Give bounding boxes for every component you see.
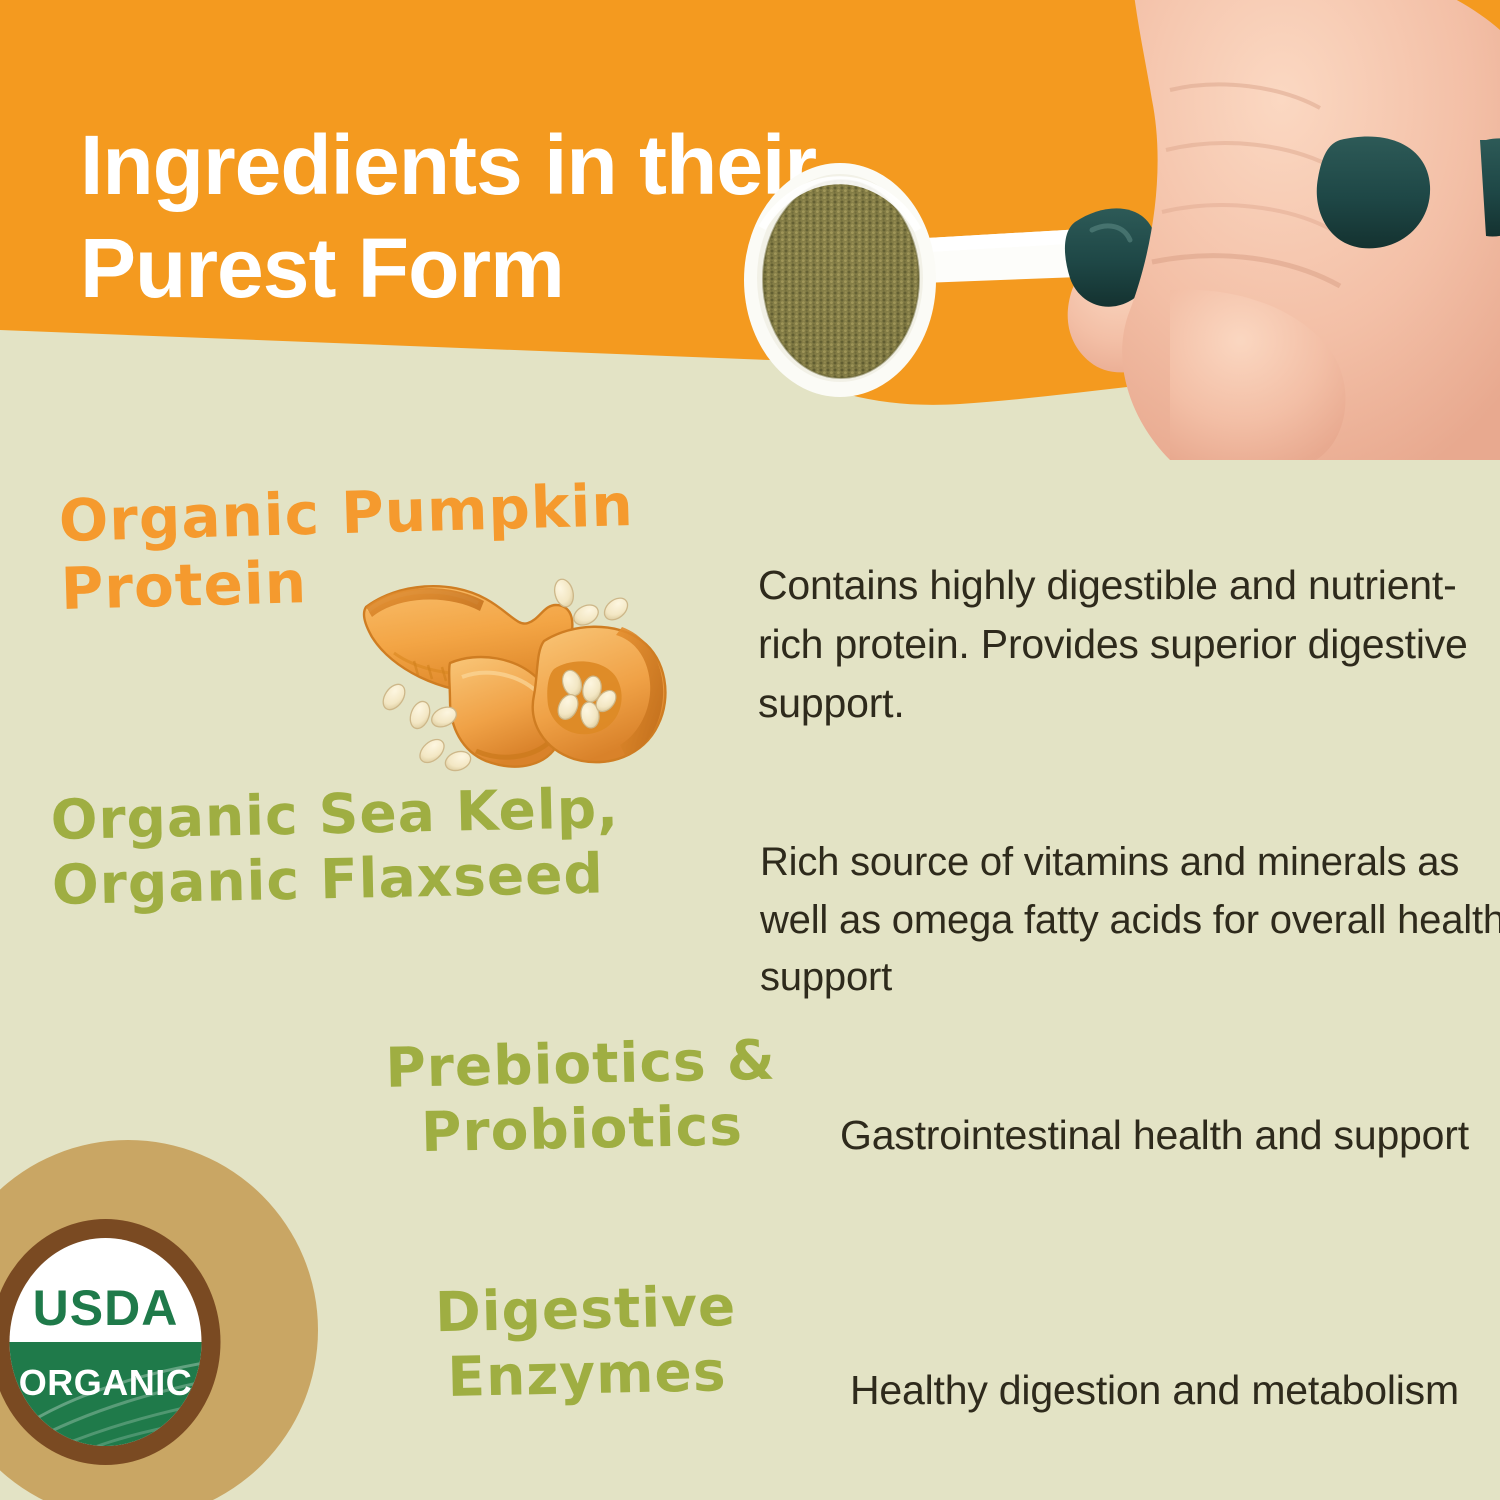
ingredient-description-prebiotics-probiotics: Gastrointestinal health and support [840, 1106, 1480, 1165]
scoop-and-hand-photo [700, 0, 1500, 460]
usda-organic-seal-icon: USDA ORGANIC [0, 1217, 223, 1467]
ingredient-row-kelp-flaxseed: Organic Sea Kelp, Organic Flaxseed Rich … [50, 788, 1470, 918]
ingredient-row-prebiotics-probiotics: Prebiotics & Probiotics Gastrointestinal… [330, 1037, 1490, 1167]
ingredient-description-kelp-flaxseed: Rich source of vitamins and minerals as … [760, 834, 1500, 1007]
badge-organic-text: ORGANIC [19, 1362, 193, 1403]
infographic-canvas: Ingredients in their Purest Form [0, 0, 1500, 1500]
ingredient-row-pumpkin-protein: Organic Pumpkin Protein [58, 487, 1458, 624]
badge-usda-text: USDA [33, 1280, 179, 1336]
ingredient-name-prebiotics-probiotics: Prebiotics & Probiotics [330, 1027, 833, 1167]
ingredient-description-pumpkin-protein: Contains highly digestible and nutrient-… [758, 556, 1478, 733]
pumpkin-slices-icon [358, 565, 678, 795]
ingredient-name-digestive-enzymes: Digestive Enzymes [350, 1272, 823, 1412]
ingredient-name-kelp-flaxseed: Organic Sea Kelp, Organic Flaxseed [50, 773, 753, 917]
ingredient-row-digestive-enzymes: Digestive Enzymes Healthy digestion and … [350, 1282, 1490, 1412]
usda-organic-badge: USDA ORGANIC [0, 1140, 338, 1500]
ingredient-description-digestive-enzymes: Healthy digestion and metabolism [850, 1361, 1470, 1420]
